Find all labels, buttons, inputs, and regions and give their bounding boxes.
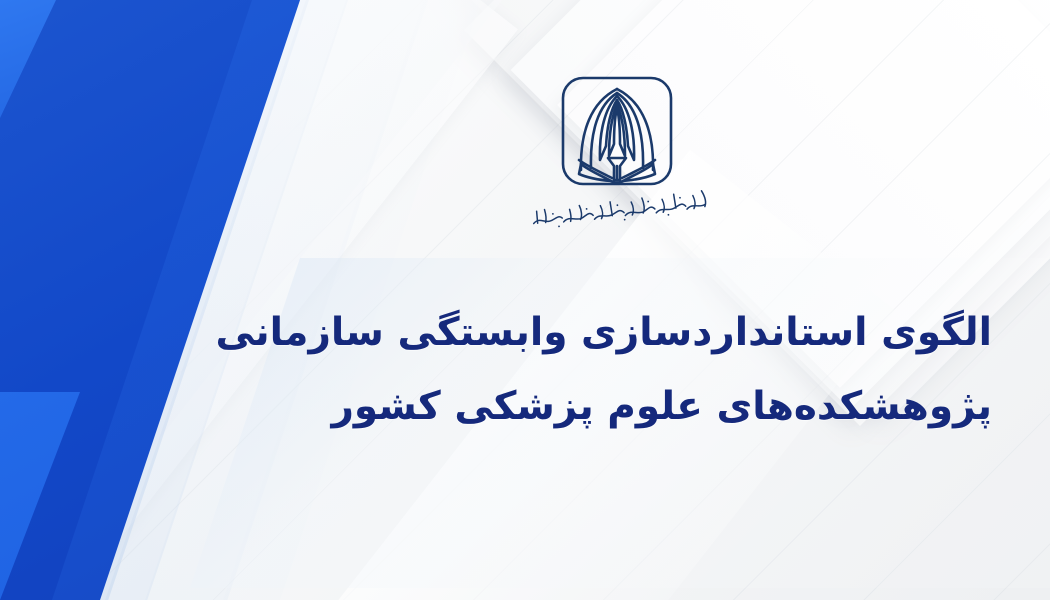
slide-title: الگوی استانداردسازی وابستگی سازمانی پژوه… bbox=[172, 296, 992, 444]
university-name-calligraphy bbox=[525, 186, 715, 234]
title-line-1: الگوی استانداردسازی وابستگی سازمانی bbox=[172, 296, 992, 370]
title-line-2: پژوهشکده‌های علوم پزشکی کشور bbox=[172, 370, 992, 444]
university-logo-icon bbox=[558, 74, 676, 192]
title-slide: الگوی استانداردسازی وابستگی سازمانی پژوه… bbox=[0, 0, 1050, 600]
